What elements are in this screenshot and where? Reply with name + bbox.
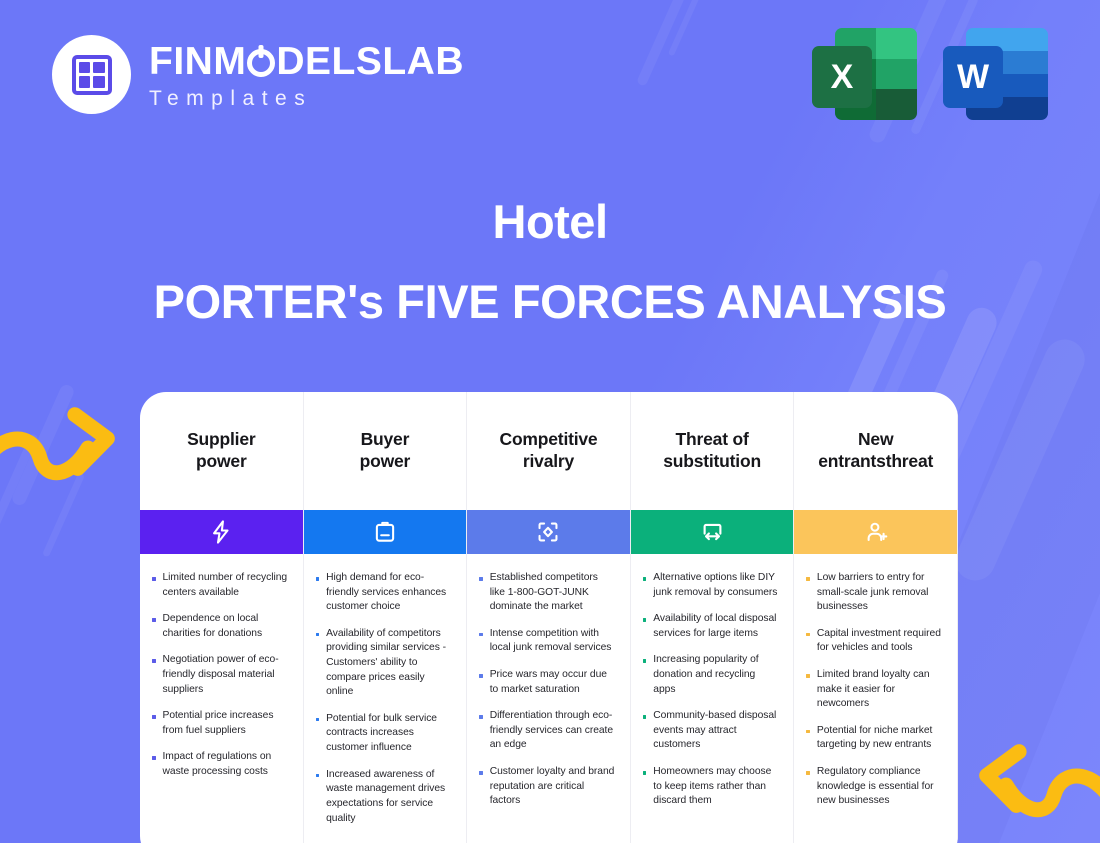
bullet-text: Limited brand loyalty can make it easier…	[817, 668, 943, 712]
bullet-text: Potential for niche market targeting by …	[817, 724, 943, 753]
bullet-text: Potential price increases from fuel supp…	[163, 709, 289, 738]
force-points-competitive-rivalry: Established competitors like 1-800-GOT-J…	[467, 554, 630, 843]
bullet-dot	[643, 771, 647, 775]
page-title: Hotel	[0, 196, 1100, 249]
bullet-dot	[479, 674, 483, 678]
bullet-text: Increasing popularity of donation and re…	[653, 653, 779, 697]
format-badges: X W	[812, 28, 1048, 120]
poster-canvas: FINMDELSLAB Templates X	[0, 0, 1100, 843]
list-item: Capital investment required for vehicles…	[806, 627, 943, 656]
list-item: Impact of regulations on waste processin…	[152, 750, 289, 779]
squiggle-arrow-up-right-icon	[0, 404, 124, 488]
list-item: Community-based disposal events may attr…	[643, 709, 780, 753]
list-item: Regulatory compliance knowledge is essen…	[806, 765, 943, 809]
bullet-dot	[479, 771, 483, 775]
bullet-text: Dependence on local charities for donati…	[163, 612, 289, 641]
force-title-new-entrants-threat: New entrantsthreat	[794, 392, 957, 510]
force-points-buyer-power: High demand for eco-friendly services en…	[304, 554, 467, 843]
list-item: Homeowners may choose to keep items rath…	[643, 765, 780, 809]
force-icon-band-supplier-power	[140, 510, 303, 554]
force-title-line2: power	[360, 451, 411, 471]
force-column-new-entrants-threat: New entrantsthreat Low barriers to entry…	[794, 392, 958, 843]
title-block: Hotel PORTER's FIVE FORCES ANALYSIS	[0, 196, 1100, 327]
list-item: Dependence on local charities for donati…	[152, 612, 289, 641]
bullet-text: Limited number of recycling centers avai…	[163, 571, 289, 600]
power-o-icon	[247, 49, 275, 77]
poster-header: FINMDELSLAB Templates X	[0, 0, 1100, 140]
bullet-dot	[643, 659, 647, 663]
bullet-text: Availability of local disposal services …	[653, 612, 779, 641]
bullet-text: Increased awareness of waste management …	[326, 768, 452, 826]
bullet-text: Regulatory compliance knowledge is essen…	[817, 765, 943, 809]
five-forces-card: Supplier power Limited number of recycli…	[140, 392, 958, 843]
force-title-line1: Buyer	[361, 429, 410, 449]
force-title-line2: rivalry	[523, 451, 574, 471]
list-item: High demand for eco-friendly services en…	[316, 571, 453, 615]
force-title-line1: New	[858, 429, 893, 449]
excel-letter: X	[812, 46, 872, 108]
list-item: Increased awareness of waste management …	[316, 768, 453, 826]
bullet-dot	[316, 577, 320, 581]
force-title-supplier-power: Supplier power	[140, 392, 303, 510]
bullet-dot	[806, 674, 810, 678]
bullet-text: Homeowners may choose to keep items rath…	[653, 765, 779, 809]
bullet-dot	[806, 633, 810, 637]
force-column-competitive-rivalry: Competitive rivalry Estab	[467, 392, 631, 843]
force-title-line2: entrantsthreat	[818, 451, 933, 471]
bullet-text: Potential for bulk service contracts inc…	[326, 712, 452, 756]
list-item: Potential for bulk service contracts inc…	[316, 712, 453, 756]
bullet-dot	[316, 633, 320, 637]
list-item: Differentiation through eco-friendly ser…	[479, 709, 616, 753]
list-item: Intense competition with local junk remo…	[479, 627, 616, 656]
bullet-dot	[806, 771, 810, 775]
force-column-supplier-power: Supplier power Limited number of recycli…	[140, 392, 304, 843]
focus-target-icon	[535, 519, 561, 545]
brand-logo: FINMDELSLAB Templates	[52, 35, 464, 114]
force-title-line2: power	[196, 451, 247, 471]
force-title-buyer-power: Buyer power	[304, 392, 467, 510]
bullet-text: Capital investment required for vehicles…	[817, 627, 943, 656]
bullet-dot	[479, 577, 483, 581]
grid-square-logo-icon	[52, 35, 131, 114]
force-title-line1: Competitive	[500, 429, 598, 449]
list-item: Limited number of recycling centers avai…	[152, 571, 289, 600]
force-title-line1: Supplier	[187, 429, 255, 449]
bullet-text: Community-based disposal events may attr…	[653, 709, 779, 753]
bullet-dot	[152, 659, 156, 663]
list-item: Alternative options like DIY junk remova…	[643, 571, 780, 600]
bullet-text: Price wars may occur due to market satur…	[490, 668, 616, 697]
list-item: Negotiation power of eco-friendly dispos…	[152, 653, 289, 697]
list-item: Price wars may occur due to market satur…	[479, 668, 616, 697]
force-points-new-entrants-threat: Low barriers to entry for small-scale ju…	[794, 554, 957, 843]
bullet-dot	[643, 618, 647, 622]
list-item: Availability of competitors providing si…	[316, 627, 453, 700]
force-title-threat-of-substitution: Threat of substitution	[631, 392, 794, 510]
list-item: Limited brand loyalty can make it easier…	[806, 668, 943, 712]
list-item: Availability of local disposal services …	[643, 612, 780, 641]
bullet-text: Negotiation power of eco-friendly dispos…	[163, 653, 289, 697]
bullet-dot	[316, 774, 320, 778]
bullet-dot	[316, 718, 320, 722]
force-title-competitive-rivalry: Competitive rivalry	[467, 392, 630, 510]
brand-subtitle: Templates	[149, 88, 464, 109]
lightning-bolt-icon	[208, 519, 234, 545]
word-letter: W	[943, 46, 1003, 108]
bullet-text: Customer loyalty and brand reputation ar…	[490, 765, 616, 809]
list-item: Potential price increases from fuel supp…	[152, 709, 289, 738]
bullet-text: Impact of regulations on waste processin…	[163, 750, 289, 779]
bullet-dot	[806, 577, 810, 581]
bullet-text: Intense competition with local junk remo…	[490, 627, 616, 656]
bullet-dot	[152, 715, 156, 719]
force-points-threat-of-substitution: Alternative options like DIY junk remova…	[631, 554, 794, 843]
force-column-threat-of-substitution: Threat of substitution Alternative opt	[631, 392, 795, 843]
bullet-text: Availability of competitors providing si…	[326, 627, 452, 700]
excel-icon: X	[812, 28, 917, 120]
bullet-dot	[806, 730, 810, 734]
force-icon-band-new-entrants-threat	[794, 510, 957, 554]
list-item: Established competitors like 1-800-GOT-J…	[479, 571, 616, 615]
force-title-line1: Threat of	[676, 429, 749, 449]
bullet-dot	[152, 577, 156, 581]
bullet-dot	[643, 577, 647, 581]
force-title-line2: substitution	[663, 451, 761, 471]
list-item: Low barriers to entry for small-scale ju…	[806, 571, 943, 615]
page-subtitle: PORTER's FIVE FORCES ANALYSIS	[0, 276, 1100, 328]
list-item: Potential for niche market targeting by …	[806, 724, 943, 753]
bullet-dot	[152, 618, 156, 622]
force-icon-band-threat-of-substitution	[631, 510, 794, 554]
force-points-supplier-power: Limited number of recycling centers avai…	[140, 554, 303, 843]
word-icon: W	[943, 28, 1048, 120]
five-forces-table: Supplier power Limited number of recycli…	[140, 392, 958, 843]
bullet-text: High demand for eco-friendly services en…	[326, 571, 452, 615]
bullet-dot	[643, 715, 647, 719]
force-icon-band-competitive-rivalry	[467, 510, 630, 554]
list-item: Increasing popularity of donation and re…	[643, 653, 780, 697]
bullet-text: Differentiation through eco-friendly ser…	[490, 709, 616, 753]
clipboard-icon	[372, 519, 398, 545]
brand-name-part2: DELSLAB	[276, 40, 464, 83]
brand-name: FINMDELSLAB	[149, 42, 464, 81]
squiggle-arrow-down-left-icon	[970, 741, 1100, 835]
bullet-text: Low barriers to entry for small-scale ju…	[817, 571, 943, 615]
bullet-text: Established competitors like 1-800-GOT-J…	[490, 571, 616, 615]
bullet-dot	[152, 756, 156, 760]
bullet-dot	[479, 633, 483, 637]
force-icon-band-buyer-power	[304, 510, 467, 554]
exchange-arrows-icon	[699, 519, 726, 546]
bullet-text: Alternative options like DIY junk remova…	[653, 571, 779, 600]
brand-name-part1: FINM	[149, 40, 246, 83]
add-person-icon	[863, 519, 889, 545]
list-item: Customer loyalty and brand reputation ar…	[479, 765, 616, 809]
bullet-dot	[479, 715, 483, 719]
force-column-buyer-power: Buyer power High demand for eco-friendly…	[304, 392, 468, 843]
